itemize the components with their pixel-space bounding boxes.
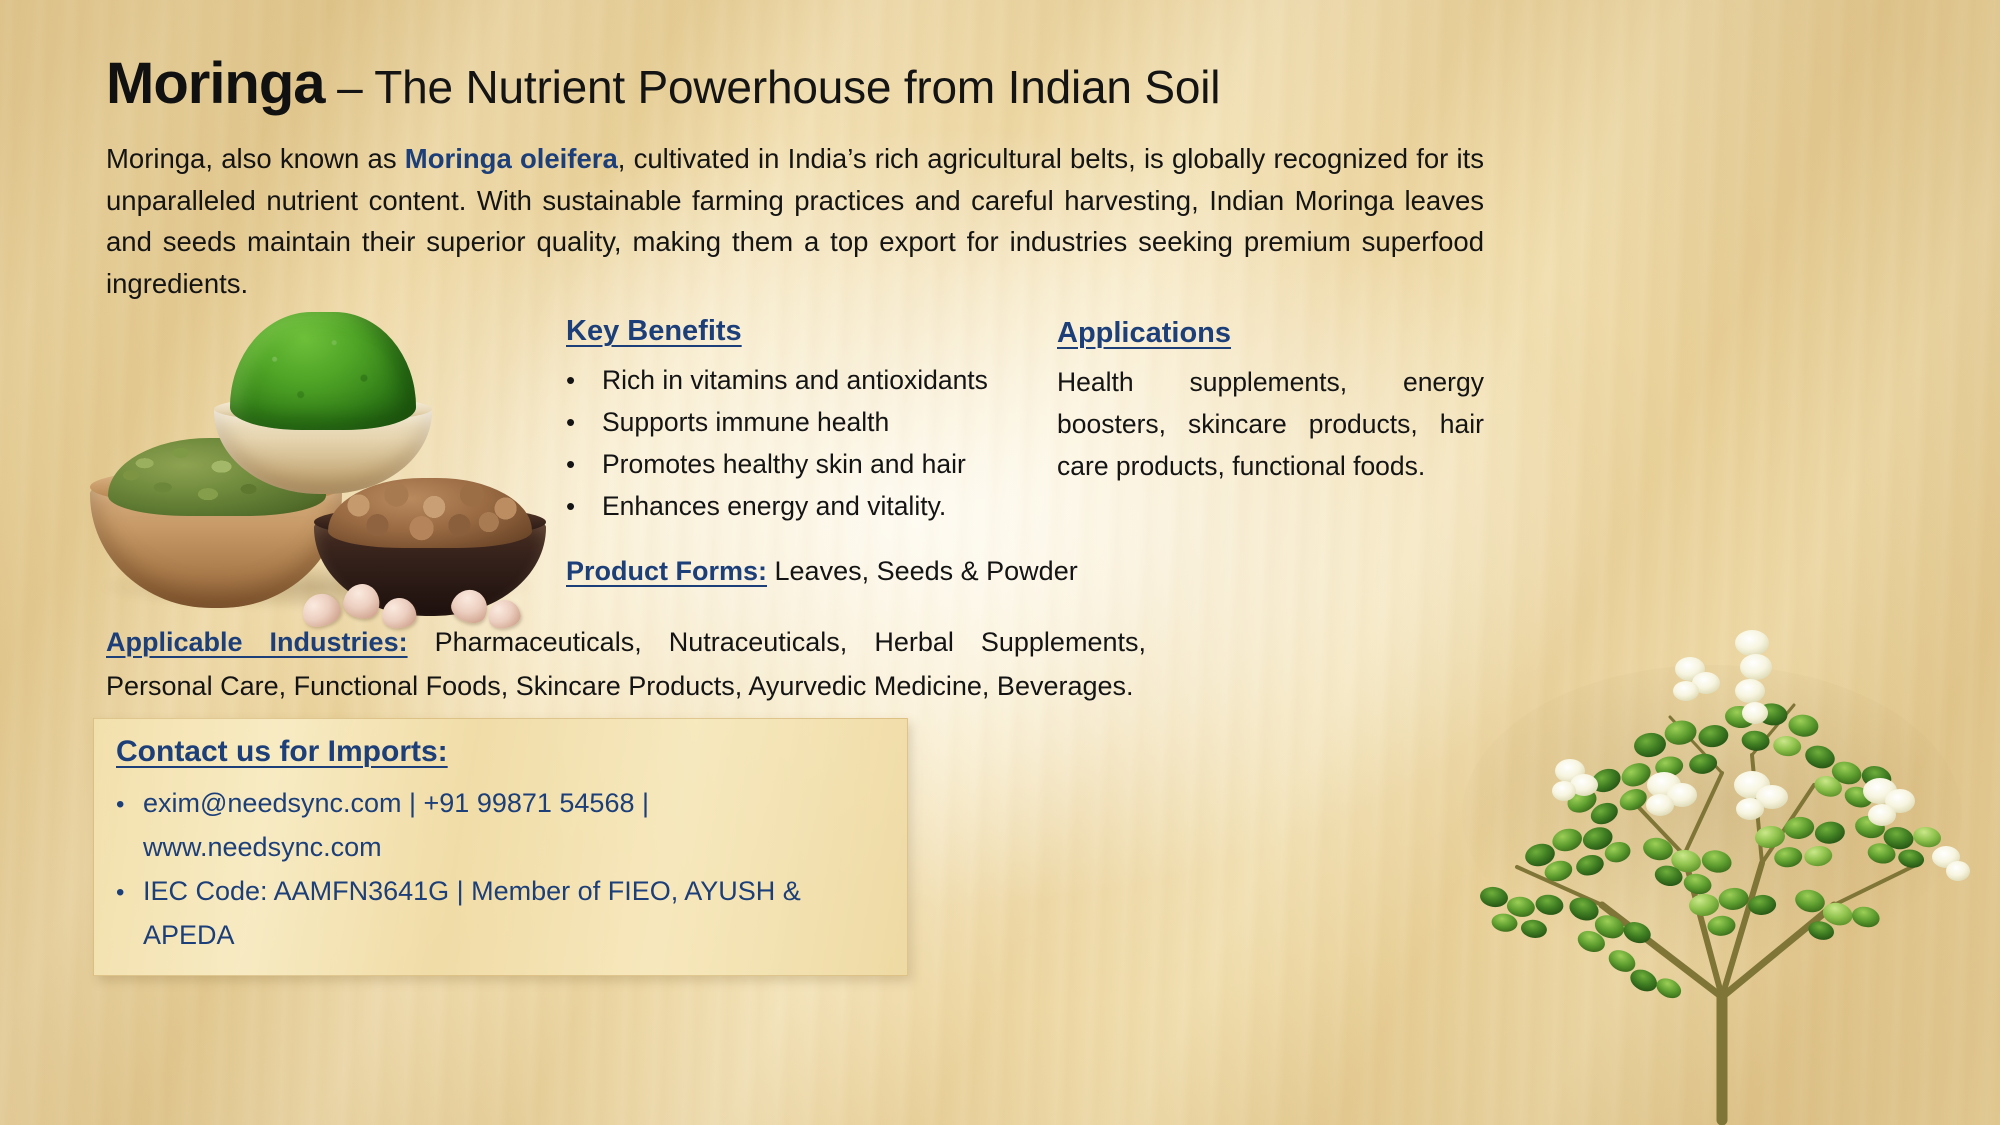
bullet-icon: •: [566, 401, 602, 443]
list-item-label: Rich in vitamins and antioxidants: [602, 359, 988, 401]
list-item: • IEC Code: AAMFN3641G | Member of FIEO,…: [116, 869, 885, 957]
product-forms-line: Product Forms: Leaves, Seeds & Powder: [566, 556, 1078, 587]
moringa-tree-illustration: [1422, 605, 1982, 1125]
list-item: • Enhances energy and vitality.: [566, 485, 1021, 527]
key-benefits-heading: Key Benefits: [566, 315, 1021, 348]
contact-list: • exim@needsync.com | +91 99871 54568 | …: [116, 781, 885, 957]
intro-text-part1: Moringa, also known as: [106, 143, 405, 174]
moringa-seeds-heap: [328, 478, 532, 548]
contact-heading: Contact us for Imports:: [116, 735, 885, 769]
moringa-tree-photo: [1422, 605, 1982, 1125]
page-title-subtitle: – The Nutrient Powerhouse from Indian So…: [325, 61, 1221, 113]
list-item: • exim@needsync.com | +91 99871 54568 | …: [116, 781, 885, 869]
list-item: • Promotes healthy skin and hair: [566, 443, 1021, 485]
contact-line-iec-memberships: IEC Code: AAMFN3641G | Member of FIEO, A…: [143, 869, 885, 957]
intro-paragraph: Moringa, also known as Moringa oleifera,…: [106, 138, 1484, 304]
bullet-icon: •: [116, 871, 143, 915]
page-title: Moringa – The Nutrient Powerhouse from I…: [106, 50, 1220, 117]
scientific-name: Moringa oleifera: [405, 143, 618, 174]
seed-icon: [340, 580, 383, 622]
green-powder-bowl: [214, 312, 432, 494]
list-item: • Supports immune health: [566, 401, 1021, 443]
product-forms-label: Product Forms:: [566, 556, 767, 586]
applicable-industries-line: Applicable Industries: Pharmaceuticals, …: [106, 620, 1146, 708]
moringa-products-photo: [88, 312, 558, 632]
list-item-label: Enhances energy and vitality.: [602, 485, 946, 527]
key-benefits-section: Key Benefits • Rich in vitamins and anti…: [566, 315, 1021, 527]
product-forms-value: Leaves, Seeds & Powder: [767, 556, 1078, 586]
list-item-label: Supports immune health: [602, 401, 889, 443]
applications-body: Health supplements, energy boosters, ski…: [1057, 361, 1484, 487]
list-item: • Rich in vitamins and antioxidants: [566, 359, 1021, 401]
bullet-icon: •: [566, 359, 602, 401]
moringa-product-sheet: Moringa – The Nutrient Powerhouse from I…: [0, 0, 2000, 1125]
moringa-powder-mound: [230, 312, 416, 430]
bullet-icon: •: [566, 443, 602, 485]
bullet-icon: •: [566, 485, 602, 527]
contact-line-email-phone-web[interactable]: exim@needsync.com | +91 99871 54568 | ww…: [143, 781, 885, 869]
applicable-industries-label: Applicable Industries:: [106, 627, 408, 657]
key-benefits-list: • Rich in vitamins and antioxidants • Su…: [566, 359, 1021, 527]
applications-section: Applications Health supplements, energy …: [1057, 317, 1484, 487]
page-title-main: Moringa: [106, 51, 325, 116]
contact-box: Contact us for Imports: • exim@needsync.…: [93, 718, 908, 976]
list-item-label: Promotes healthy skin and hair: [602, 443, 966, 485]
bullet-icon: •: [116, 783, 143, 827]
applications-heading: Applications: [1057, 317, 1484, 350]
